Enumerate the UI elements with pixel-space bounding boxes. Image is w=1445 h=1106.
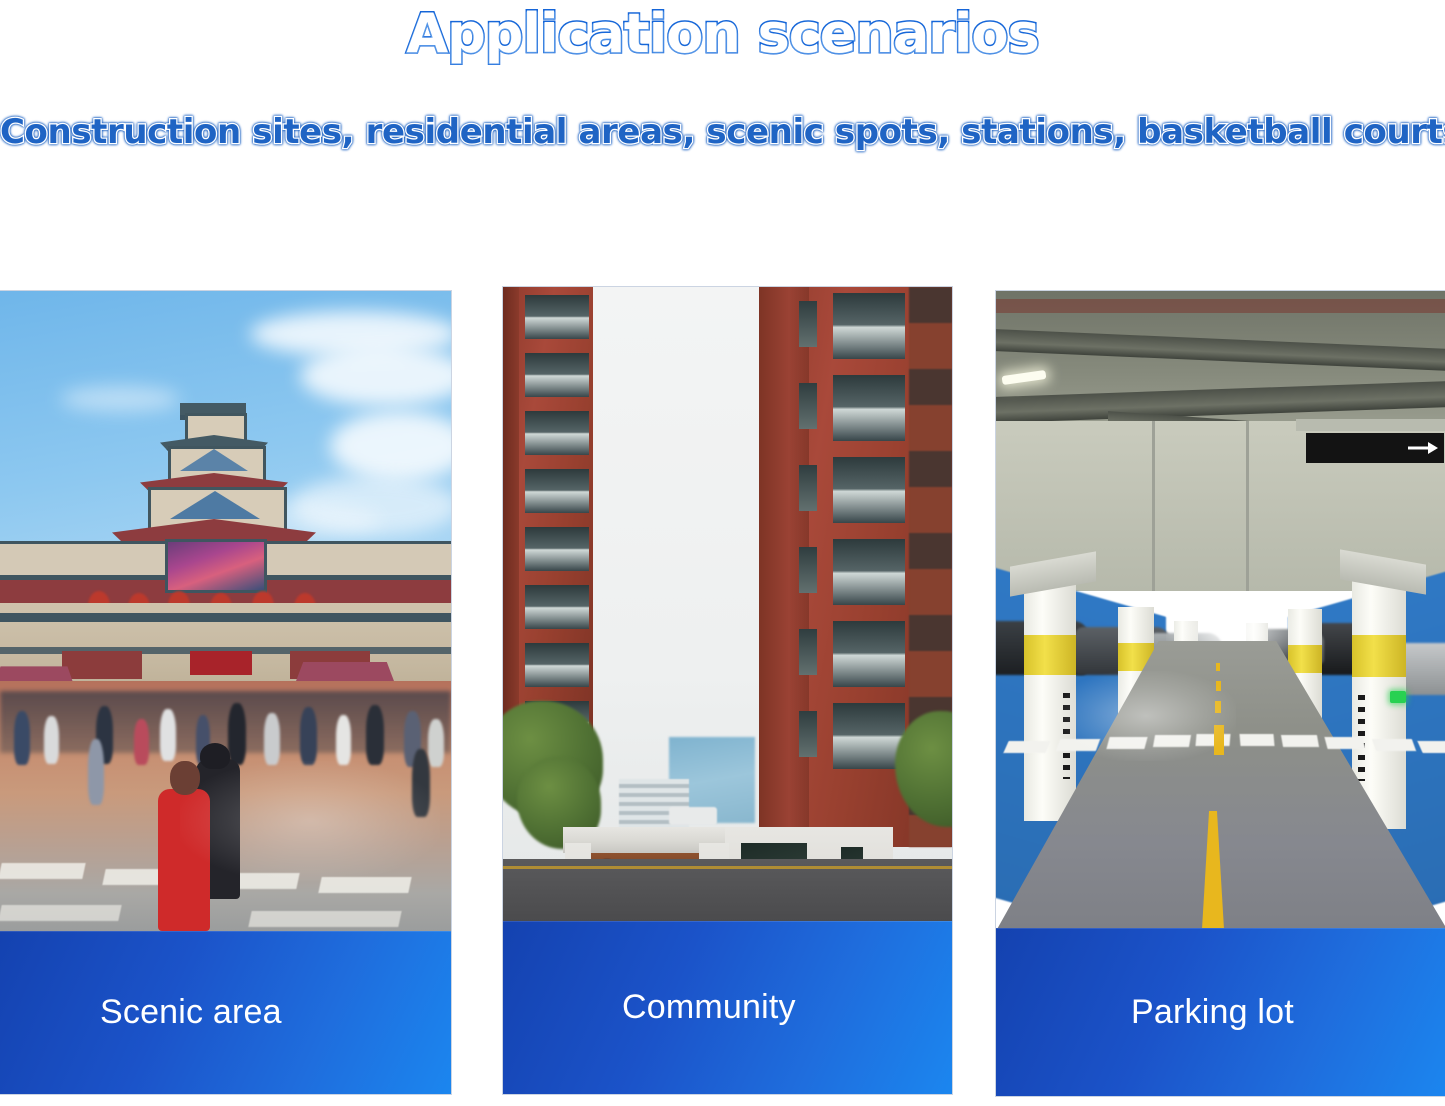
caption-label: Parking lot — [996, 993, 1294, 1032]
tower-window — [525, 411, 589, 455]
caption-label: Scenic area — [0, 993, 282, 1032]
tower-window — [525, 353, 589, 397]
pillar-yellow-band — [1352, 635, 1406, 677]
road-yellow-line — [503, 866, 952, 869]
crowd-person — [264, 713, 280, 765]
crosswalk-stripe — [248, 911, 401, 927]
tower-window — [525, 643, 589, 687]
wall-seam — [1246, 421, 1249, 591]
caption-bar-scenic: Scenic area — [0, 931, 451, 1094]
distant-bus — [669, 807, 717, 825]
tower-window — [525, 295, 589, 339]
tower-window — [799, 465, 817, 511]
tower-window — [799, 301, 817, 347]
scenario-card-community[interactable]: Community — [503, 287, 952, 1094]
tower-bay-window — [833, 457, 905, 523]
parking-photo — [996, 291, 1445, 928]
page-title: Application scenarios — [0, 2, 1445, 65]
facade-red-panel — [62, 651, 142, 679]
crosswalk-stripe — [1281, 735, 1319, 747]
crowd-person — [88, 739, 104, 805]
crowd-person — [160, 709, 176, 761]
sign-rail — [1296, 419, 1445, 431]
tower-bay-window — [833, 539, 905, 605]
crosswalk-stripe — [1372, 739, 1416, 751]
crowd-person — [44, 716, 59, 764]
scenario-card-scenic[interactable]: Scenic area — [0, 291, 451, 1094]
facade-beam — [0, 613, 451, 622]
tower-pillar-strip — [503, 287, 519, 757]
tower-window — [799, 629, 817, 675]
scenario-card-parking[interactable]: Parking lot — [996, 291, 1445, 1096]
crosswalk-stripe — [1417, 741, 1445, 753]
page-subtitle: Construction sites, residential areas, s… — [0, 112, 1445, 152]
tower-bay-window — [833, 375, 905, 441]
led-screen — [165, 539, 267, 593]
crowd-person — [428, 719, 444, 767]
pillar-yellow-band — [1024, 635, 1076, 675]
center-line-dash — [1216, 663, 1220, 671]
crowd-person — [14, 711, 30, 765]
caption-label: Community — [503, 988, 796, 1027]
caption-bar-community: Community — [503, 921, 952, 1094]
scenic-photo — [0, 291, 451, 931]
crowd-person — [300, 707, 317, 765]
arrow-right-icon — [1408, 440, 1438, 456]
tower-window — [799, 383, 817, 429]
tower-window — [525, 585, 589, 629]
bay-status-indicator — [1390, 691, 1406, 703]
cloud — [60, 386, 180, 412]
crowd-person — [228, 703, 246, 765]
ceiling-duct — [996, 299, 1445, 313]
crosswalk-stripe — [1324, 737, 1365, 749]
tower-window — [799, 711, 817, 757]
sun-glare — [180, 761, 440, 881]
tower-window — [525, 527, 589, 571]
tower-bay-window — [833, 621, 905, 687]
crosswalk-stripe — [1003, 741, 1050, 753]
wall-seam — [1152, 421, 1155, 591]
direction-sign — [1306, 433, 1444, 463]
crosswalk-stripe — [0, 863, 86, 879]
tower-window — [525, 469, 589, 513]
crowd-person — [366, 705, 384, 765]
crowd-person — [134, 719, 149, 765]
facade-sign — [190, 651, 252, 675]
crosswalk-stripe — [0, 905, 122, 921]
crowd-person — [336, 715, 351, 765]
floor-reflection — [1056, 671, 1236, 761]
tower-window — [799, 547, 817, 593]
caption-bar-parking: Parking lot — [996, 928, 1445, 1096]
community-photo — [503, 287, 952, 921]
tower-bay-window — [833, 293, 905, 359]
crosswalk-stripe — [1239, 734, 1274, 746]
